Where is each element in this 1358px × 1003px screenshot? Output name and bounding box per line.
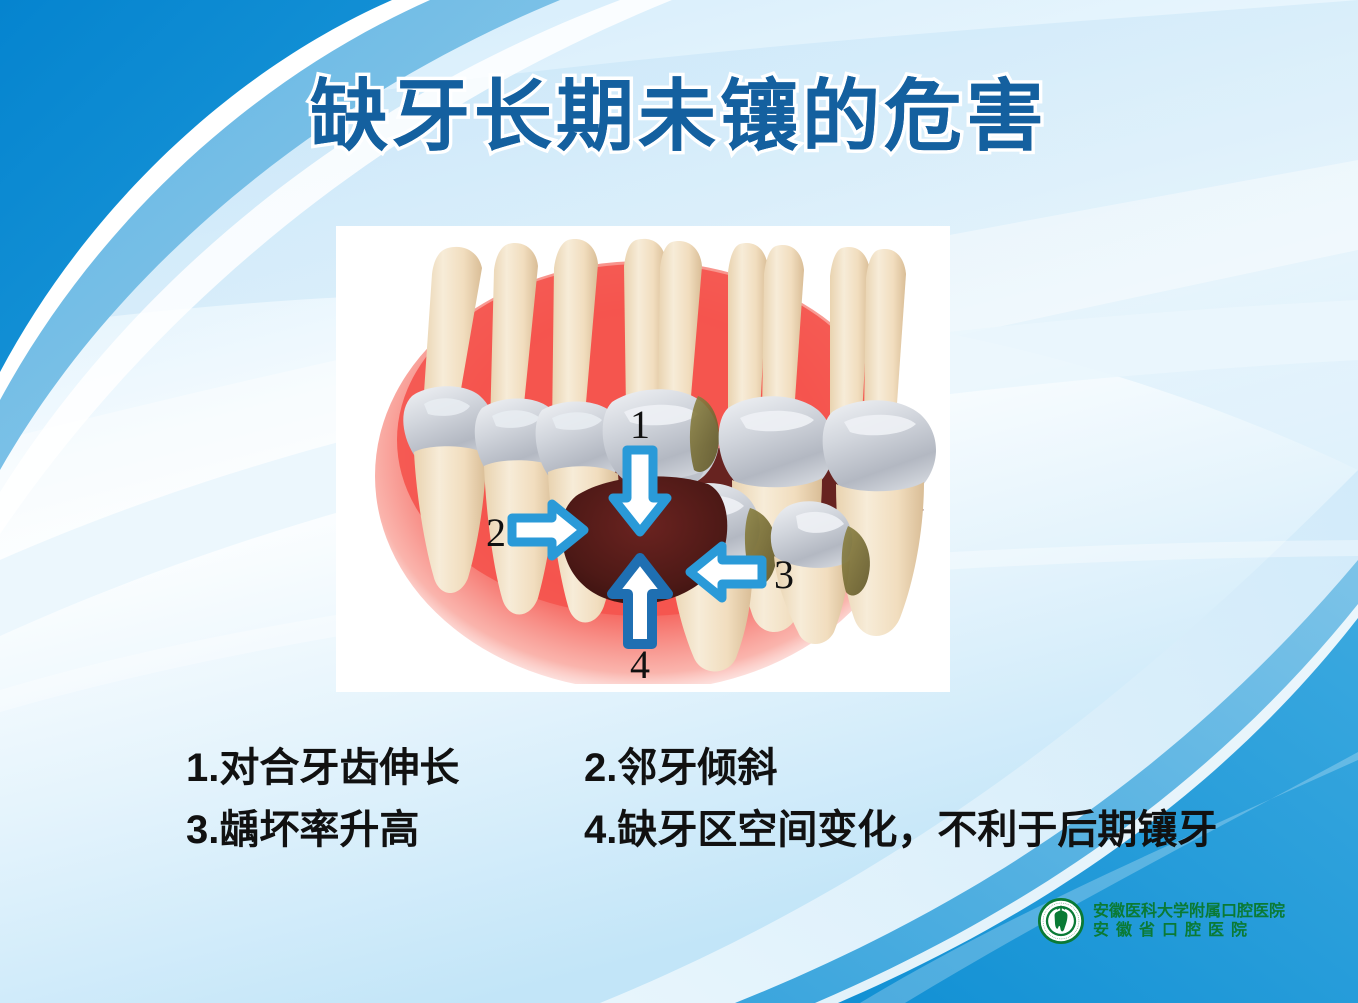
- list-item-2: 2.邻牙倾斜: [584, 748, 1306, 788]
- dental-illustration: 1 2 3 4: [336, 226, 950, 692]
- list-row: 3.龋坏率升高 4.缺牙区空间变化，不利于后期镶牙: [186, 810, 1306, 872]
- harm-list: 1.对合牙齿伸长 2.邻牙倾斜 3.龋坏率升高 4.缺牙区空间变化，不利于后期镶…: [186, 748, 1306, 872]
- list-item-1: 1.对合牙齿伸长: [186, 748, 584, 788]
- hospital-logo-text: 安徽医科大学附属口腔医院 安徽省口腔医院: [1093, 904, 1285, 939]
- page-title: 缺牙长期未镶的危害: [0, 76, 1358, 158]
- hospital-name-line1: 安徽医科大学附属口腔医院: [1093, 904, 1285, 920]
- dental-illustration-graphic: 1 2 3 4: [336, 226, 950, 692]
- callout-label-4: 4: [630, 642, 650, 687]
- callout-label-3: 3: [774, 552, 794, 597]
- list-row: 1.对合牙齿伸长 2.邻牙倾斜: [186, 748, 1306, 810]
- callout-label-2: 2: [486, 510, 506, 555]
- callout-label-1: 1: [630, 402, 650, 447]
- hospital-emblem-icon: [1038, 898, 1084, 944]
- list-item-3: 3.龋坏率升高: [186, 810, 584, 850]
- hospital-name-line2: 安徽省口腔医院: [1093, 923, 1285, 939]
- slide-canvas: 缺牙长期未镶的危害 缺牙长期未镶的危害: [0, 0, 1358, 1003]
- hospital-logo: 安徽医科大学附属口腔医院 安徽省口腔医院: [1038, 898, 1285, 944]
- list-item-4: 4.缺牙区空间变化，不利于后期镶牙: [584, 810, 1306, 850]
